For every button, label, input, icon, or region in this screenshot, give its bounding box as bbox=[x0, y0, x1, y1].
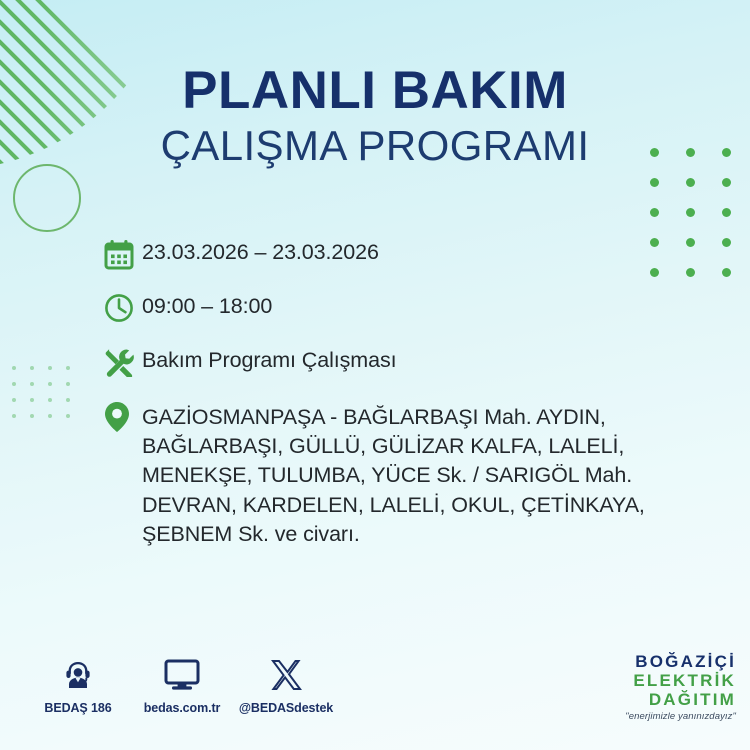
contact-website[interactable]: bedas.com.tr bbox=[130, 656, 234, 715]
map-pin-icon bbox=[104, 400, 142, 435]
contact-x-account[interactable]: @BEDASdestek bbox=[234, 656, 338, 715]
dot-grid-left-decoration bbox=[12, 366, 74, 420]
page-subtitle: ÇALIŞMA PROGRAMI bbox=[0, 122, 750, 170]
contact-phone[interactable]: BEDAŞ 186 bbox=[26, 656, 130, 715]
contact-x-label: @BEDASdestek bbox=[239, 701, 333, 715]
contact-list: BEDAŞ 186 bedas.com.tr bbox=[26, 656, 338, 715]
info-row-time: 09:00 – 18:00 bbox=[104, 292, 704, 327]
clock-icon bbox=[104, 292, 142, 327]
poster-footer: BEDAŞ 186 bedas.com.tr bbox=[0, 656, 750, 734]
work-type-text: Bakım Programı Çalışması bbox=[142, 346, 704, 371]
brand-line-dagitim: DAĞITIM bbox=[576, 690, 736, 709]
address-line: ŞEBNEM Sk. ve civarı. bbox=[142, 520, 704, 549]
brand-tagline: "enerjimizle yanınızdayız" bbox=[576, 711, 736, 722]
address-text: GAZİOSMANPAŞA - BAĞLARBAŞI Mah. AYDIN, B… bbox=[142, 400, 704, 549]
info-row-date: 23.03.2026 – 23.03.2026 bbox=[104, 238, 704, 273]
info-block: 23.03.2026 – 23.03.2026 09:00 – 18:00 bbox=[104, 238, 704, 549]
contact-phone-label: BEDAŞ 186 bbox=[44, 701, 111, 715]
info-row-address: GAZİOSMANPAŞA - BAĞLARBAŞI Mah. AYDIN, B… bbox=[104, 400, 704, 549]
maintenance-schedule-poster: PLANLI BAKIM ÇALIŞMA PROGRAMI bbox=[0, 0, 750, 750]
time-range-text: 09:00 – 18:00 bbox=[142, 292, 704, 317]
brand-line-bogazici: BOĞAZİÇİ bbox=[576, 652, 736, 671]
info-row-work-type: Bakım Programı Çalışması bbox=[104, 346, 704, 381]
headset-support-icon bbox=[61, 656, 95, 694]
contact-website-label: bedas.com.tr bbox=[144, 701, 221, 715]
wrench-screwdriver-icon bbox=[104, 346, 142, 381]
x-twitter-icon bbox=[270, 656, 302, 694]
address-line: GAZİOSMANPAŞA - BAĞLARBAŞI Mah. AYDIN, bbox=[142, 403, 704, 432]
address-line: DEVRAN, KARDELEN, LALELİ, OKUL, ÇETİNKAY… bbox=[142, 491, 704, 520]
address-line: MENEKŞE, TULUMBA, YÜCE Sk. / SARIGÖL Mah… bbox=[142, 461, 704, 490]
page-title: PLANLI BAKIM bbox=[0, 64, 750, 118]
poster-header: PLANLI BAKIM ÇALIŞMA PROGRAMI bbox=[0, 64, 750, 170]
bedas-logo: BOĞAZİÇİ ELEKTRİK DAĞITIM "enerjimizle y… bbox=[576, 652, 736, 722]
circle-outline-decoration bbox=[13, 164, 81, 232]
date-range-text: 23.03.2026 – 23.03.2026 bbox=[142, 238, 704, 263]
address-line: BAĞLARBAŞI, GÜLLÜ, GÜLİZAR KALFA, LALELİ… bbox=[142, 432, 704, 461]
monitor-icon bbox=[164, 656, 200, 694]
calendar-icon bbox=[104, 238, 142, 273]
brand-line-elektrik: ELEKTRİK bbox=[576, 671, 736, 690]
